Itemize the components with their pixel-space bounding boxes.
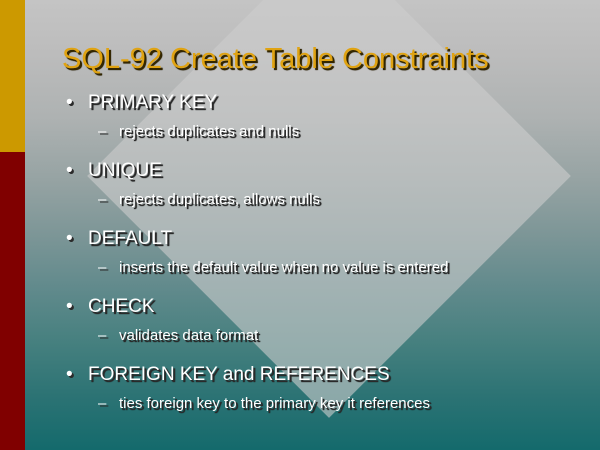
bullet-dot-icon: • — [66, 160, 73, 182]
bullet-level2: – validates data format — [98, 327, 594, 345]
bullet-level1-label: DEFAULT — [88, 228, 172, 249]
bullet-dot-icon: • — [66, 364, 73, 386]
bullet-level2-label: inserts the default value when no value … — [119, 259, 448, 276]
slide-title: SQL-92 Create Table Constraints — [62, 42, 489, 76]
bullet-dot-icon: • — [66, 296, 73, 318]
bullet-level1-label: FOREIGN KEY and REFERENCES — [88, 364, 390, 385]
bullet-level2: – rejects duplicates, allows nulls — [98, 191, 594, 209]
list-item: • DEFAULT – inserts the default value wh… — [58, 228, 594, 277]
bullet-level1-label: CHECK — [88, 296, 155, 317]
bullet-level2-label: validates data format — [119, 327, 258, 344]
bullet-level2-label: ties foreign key to the primary key it r… — [119, 395, 430, 412]
list-item: • UNIQUE – rejects duplicates, allows nu… — [58, 160, 594, 209]
bullet-level2: – ties foreign key to the primary key it… — [98, 395, 594, 413]
bullet-level1-label: UNIQUE — [88, 160, 162, 181]
bullet-dot-icon: • — [66, 92, 73, 114]
list-item: • CHECK – validates data format — [58, 296, 594, 345]
en-dash-icon: – — [98, 259, 106, 277]
en-dash-icon: – — [98, 327, 106, 345]
bullet-level1: • DEFAULT — [58, 228, 594, 250]
bullet-level1-label: PRIMARY KEY — [88, 92, 217, 113]
presentation-slide: SQL-92 Create Table Constraints • PRIMAR… — [0, 0, 600, 450]
bullet-list: • PRIMARY KEY – rejects duplicates and n… — [58, 92, 594, 413]
en-dash-icon: – — [98, 395, 106, 413]
en-dash-icon: – — [98, 191, 106, 209]
bullet-level2-label: rejects duplicates, allows nulls — [119, 191, 320, 208]
bullet-level1: • UNIQUE — [58, 160, 594, 182]
bullet-level1: • FOREIGN KEY and REFERENCES — [58, 364, 594, 386]
list-item: • FOREIGN KEY and REFERENCES – ties fore… — [58, 364, 594, 413]
bullet-level2: – inserts the default value when no valu… — [98, 259, 594, 277]
bullet-level2-label: rejects duplicates and nulls — [119, 123, 299, 140]
bullet-level1: • CHECK — [58, 296, 594, 318]
list-item: • PRIMARY KEY – rejects duplicates and n… — [58, 92, 594, 141]
bullet-level1: • PRIMARY KEY — [58, 92, 594, 114]
bullet-dot-icon: • — [66, 228, 73, 250]
bullet-level2: – rejects duplicates and nulls — [98, 123, 594, 141]
slide-content: SQL-92 Create Table Constraints • PRIMAR… — [0, 0, 600, 450]
en-dash-icon: – — [98, 123, 106, 141]
